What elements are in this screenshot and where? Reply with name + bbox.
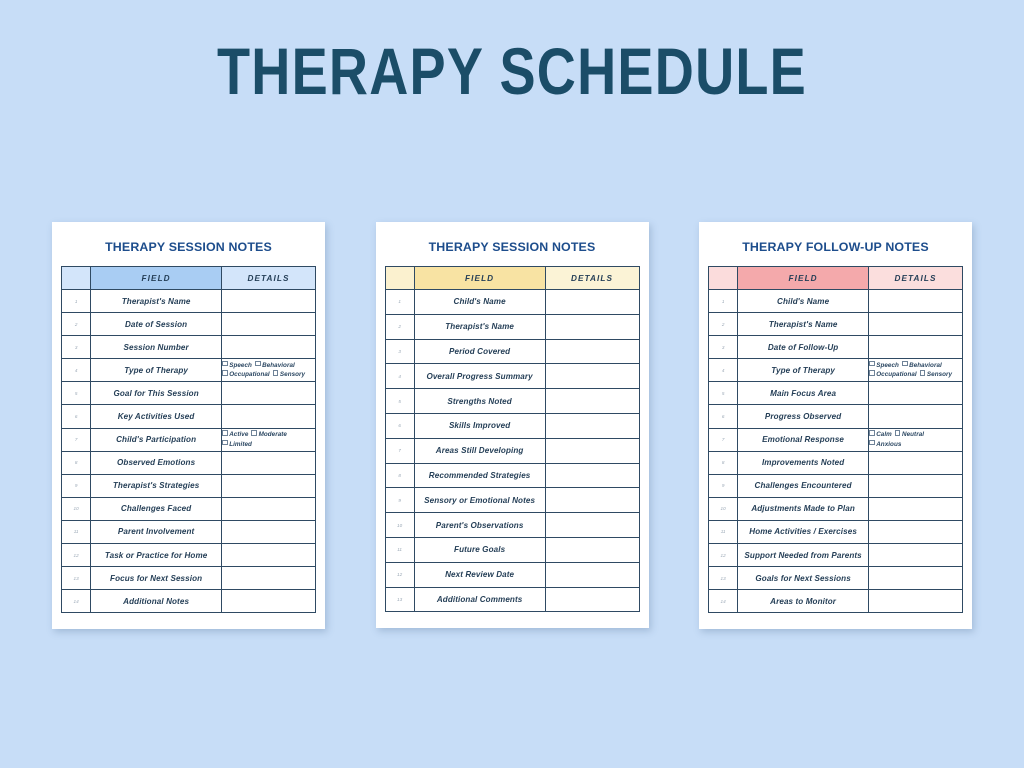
row-number: 7 xyxy=(709,428,738,451)
checkbox-icon[interactable] xyxy=(222,440,228,446)
column-header-details: DETAILS xyxy=(869,267,963,290)
row-field-label: Therapist's Name xyxy=(414,314,545,339)
checkbox-option[interactable]: Behavioral xyxy=(255,361,295,371)
row-number: 7 xyxy=(62,428,91,451)
checkbox-option[interactable]: Moderate xyxy=(251,430,287,440)
checkbox-option[interactable]: Active xyxy=(222,430,248,440)
row-number: 9 xyxy=(385,488,414,513)
row-field-label: Recommended Strategies xyxy=(414,463,545,488)
checkbox-option[interactable]: Sensory xyxy=(920,370,952,380)
checkbox-label: Anxious xyxy=(876,441,901,448)
row-field-label: Child's Participation xyxy=(91,428,222,451)
row-number: 8 xyxy=(709,451,738,474)
card-title: THERAPY SESSION NOTES xyxy=(385,240,640,254)
row-number: 5 xyxy=(62,382,91,405)
table-header-row: FIELDDETAILS xyxy=(385,267,639,290)
row-details-cell[interactable] xyxy=(869,567,963,590)
column-header-details: DETAILS xyxy=(222,267,316,290)
row-details-cell[interactable] xyxy=(869,497,963,520)
row-number: 11 xyxy=(62,520,91,543)
page-title: THERAPY SCHEDULE xyxy=(92,34,932,108)
row-details-cell[interactable] xyxy=(869,336,963,359)
row-details-cell[interactable] xyxy=(222,451,316,474)
row-field-label: Child's Name xyxy=(414,290,545,315)
row-number: 1 xyxy=(62,290,91,313)
table-row: 4Overall Progress Summary xyxy=(385,364,639,389)
row-details-cell[interactable] xyxy=(869,520,963,543)
checkbox-option-group: ActiveModerateLimited xyxy=(222,430,315,449)
table-row: 7Areas Still Developing xyxy=(385,438,639,463)
row-details-cell[interactable] xyxy=(545,537,639,562)
row-number: 9 xyxy=(62,474,91,497)
row-field-label: Therapist's Name xyxy=(91,290,222,313)
row-field-label: Date of Session xyxy=(91,313,222,336)
checkbox-option-group: CalmNeutralAnxious xyxy=(869,430,962,449)
checkbox-label: Behavioral xyxy=(262,362,295,369)
checkbox-option[interactable]: Occupational xyxy=(869,370,917,380)
row-number: 10 xyxy=(385,513,414,538)
row-field-label: Emotional Response xyxy=(738,428,869,451)
row-details-cell[interactable]: CalmNeutralAnxious xyxy=(869,428,963,451)
checkbox-label: Behavioral xyxy=(909,362,942,369)
table-header-row: FIELDDETAILS xyxy=(62,267,316,290)
row-details-cell[interactable] xyxy=(222,544,316,567)
column-header-field: FIELD xyxy=(738,267,869,290)
row-field-label: Areas Still Developing xyxy=(414,438,545,463)
table-row: 1Child's Name xyxy=(709,290,963,313)
row-number: 5 xyxy=(709,382,738,405)
table-row: 5Goal for This Session xyxy=(62,382,316,405)
row-number: 1 xyxy=(709,290,738,313)
row-number: 12 xyxy=(709,544,738,567)
row-field-label: Additional Notes xyxy=(91,590,222,613)
row-field-label: Main Focus Area xyxy=(738,382,869,405)
table-row: 6Skills Improved xyxy=(385,413,639,438)
row-number: 2 xyxy=(709,313,738,336)
checkbox-label: Occupational xyxy=(229,371,270,378)
checkbox-icon[interactable] xyxy=(869,440,875,446)
row-details-cell[interactable] xyxy=(545,463,639,488)
row-field-label: Child's Name xyxy=(738,290,869,313)
row-number: 2 xyxy=(385,314,414,339)
cards-row: THERAPY SESSION NOTESFIELDDETAILS1Therap… xyxy=(52,222,972,629)
row-number: 3 xyxy=(385,339,414,364)
row-details-cell[interactable] xyxy=(222,497,316,520)
checkbox-icon[interactable] xyxy=(869,370,875,376)
notes-table: FIELDDETAILS1Therapist's Name2Date of Se… xyxy=(61,266,316,613)
table-row: 3Session Number xyxy=(62,336,316,359)
row-number: 14 xyxy=(62,590,91,613)
row-field-label: Type of Therapy xyxy=(738,359,869,382)
table-row: 2Therapist's Name xyxy=(709,313,963,336)
table-row: 13Goals for Next Sessions xyxy=(709,567,963,590)
row-details-cell[interactable] xyxy=(222,336,316,359)
row-field-label: Type of Therapy xyxy=(91,359,222,382)
checkbox-label: Moderate xyxy=(259,431,287,438)
table-row: 8Observed Emotions xyxy=(62,451,316,474)
row-number: 13 xyxy=(709,567,738,590)
row-details-cell[interactable] xyxy=(545,587,639,612)
row-number: 3 xyxy=(62,336,91,359)
row-number: 12 xyxy=(62,544,91,567)
row-number: 7 xyxy=(385,438,414,463)
checkbox-label: Speech xyxy=(229,362,252,369)
table-row: 11Future Goals xyxy=(385,537,639,562)
checkbox-icon[interactable] xyxy=(222,430,228,436)
row-field-label: Overall Progress Summary xyxy=(414,364,545,389)
checkbox-option[interactable]: Limited xyxy=(222,440,252,450)
row-number: 4 xyxy=(62,359,91,382)
row-number: 14 xyxy=(709,590,738,613)
row-details-cell[interactable] xyxy=(545,562,639,587)
row-number: 6 xyxy=(709,405,738,428)
table-row: 3Date of Follow-Up xyxy=(709,336,963,359)
column-header-number xyxy=(385,267,414,290)
row-details-cell[interactable] xyxy=(545,339,639,364)
row-number: 3 xyxy=(709,336,738,359)
row-number: 10 xyxy=(62,497,91,520)
row-details-cell[interactable] xyxy=(545,314,639,339)
row-details-cell[interactable] xyxy=(869,451,963,474)
checkbox-icon[interactable] xyxy=(222,370,228,376)
row-number: 11 xyxy=(709,520,738,543)
row-field-label: Focus for Next Session xyxy=(91,567,222,590)
row-field-label: Session Number xyxy=(91,336,222,359)
row-details-cell[interactable] xyxy=(869,590,963,613)
row-details-cell[interactable] xyxy=(869,544,963,567)
checkbox-option[interactable]: Neutral xyxy=(895,430,924,440)
row-field-label: Challenges Encountered xyxy=(738,474,869,497)
row-field-label: Future Goals xyxy=(414,537,545,562)
row-field-label: Skills Improved xyxy=(414,413,545,438)
checkbox-label: Speech xyxy=(876,362,899,369)
row-field-label: Therapist's Name xyxy=(738,313,869,336)
row-number: 10 xyxy=(709,497,738,520)
table-row: 12Support Needed from Parents xyxy=(709,544,963,567)
row-field-label: Goals for Next Sessions xyxy=(738,567,869,590)
row-field-label: Areas to Monitor xyxy=(738,590,869,613)
checkbox-icon[interactable] xyxy=(902,361,908,367)
row-field-label: Goal for This Session xyxy=(91,382,222,405)
checkbox-option[interactable]: Speech xyxy=(869,361,899,371)
checkbox-icon[interactable] xyxy=(251,430,257,436)
row-details-cell[interactable] xyxy=(222,405,316,428)
row-details-cell[interactable] xyxy=(222,567,316,590)
card-title: THERAPY FOLLOW-UP NOTES xyxy=(708,240,963,254)
table-row: 1Therapist's Name xyxy=(62,290,316,313)
table-row: 10Adjustments Made to Plan xyxy=(709,497,963,520)
table-row: 5Main Focus Area xyxy=(709,382,963,405)
card-therapy-session-notes-yellow: THERAPY SESSION NOTESFIELDDETAILS1Child'… xyxy=(376,222,649,628)
table-row: 11Parent Involvement xyxy=(62,520,316,543)
table-row: 7Child's ParticipationActiveModerateLimi… xyxy=(62,428,316,451)
table-row: 7Emotional ResponseCalmNeutralAnxious xyxy=(709,428,963,451)
row-details-cell[interactable] xyxy=(545,488,639,513)
row-field-label: Key Activities Used xyxy=(91,405,222,428)
checkbox-label: Limited xyxy=(229,441,252,448)
table-row: 14Areas to Monitor xyxy=(709,590,963,613)
table-row: 9Challenges Encountered xyxy=(709,474,963,497)
row-number: 8 xyxy=(385,463,414,488)
table-row: 8Recommended Strategies xyxy=(385,463,639,488)
row-details-cell[interactable]: SpeechBehavioralOccupationalSensory xyxy=(222,359,316,382)
table-row: 10Challenges Faced xyxy=(62,497,316,520)
row-number: 13 xyxy=(62,567,91,590)
row-details-cell[interactable] xyxy=(545,290,639,315)
checkbox-option[interactable]: Calm xyxy=(869,430,892,440)
row-number: 12 xyxy=(385,562,414,587)
row-details-cell[interactable]: ActiveModerateLimited xyxy=(222,428,316,451)
row-field-label: Observed Emotions xyxy=(91,451,222,474)
column-header-field: FIELD xyxy=(91,267,222,290)
card-title: THERAPY SESSION NOTES xyxy=(61,240,316,254)
checkbox-icon[interactable] xyxy=(895,430,901,436)
checkbox-icon[interactable] xyxy=(255,361,261,367)
row-details-cell[interactable] xyxy=(222,382,316,405)
checkbox-option-group: SpeechBehavioralOccupationalSensory xyxy=(222,361,315,380)
row-field-label: Additional Comments xyxy=(414,587,545,612)
row-number: 2 xyxy=(62,313,91,336)
table-row: 4Type of TherapySpeechBehavioralOccupati… xyxy=(709,359,963,382)
card-therapy-follow-up-notes-pink: THERAPY FOLLOW-UP NOTESFIELDDETAILS1Chil… xyxy=(699,222,972,629)
row-field-label: Challenges Faced xyxy=(91,497,222,520)
row-number: 11 xyxy=(385,537,414,562)
row-field-label: Support Needed from Parents xyxy=(738,544,869,567)
row-details-cell[interactable] xyxy=(545,438,639,463)
row-details-cell[interactable] xyxy=(222,520,316,543)
row-details-cell[interactable] xyxy=(869,474,963,497)
checkbox-option[interactable]: Anxious xyxy=(869,440,901,450)
row-number: 4 xyxy=(709,359,738,382)
table-row: 6Progress Observed xyxy=(709,405,963,428)
card-therapy-session-notes-blue: THERAPY SESSION NOTESFIELDDETAILS1Therap… xyxy=(52,222,325,629)
checkbox-label: Neutral xyxy=(902,431,924,438)
notes-table: FIELDDETAILS1Child's Name2Therapist's Na… xyxy=(385,266,640,612)
row-details-cell[interactable] xyxy=(545,513,639,538)
row-number: 8 xyxy=(62,451,91,474)
row-field-label: Parent's Observations xyxy=(414,513,545,538)
checkbox-icon[interactable] xyxy=(869,430,875,436)
table-row: 6Key Activities Used xyxy=(62,405,316,428)
table-row: 9Sensory or Emotional Notes xyxy=(385,488,639,513)
row-details-cell[interactable] xyxy=(869,290,963,313)
row-details-cell[interactable] xyxy=(869,382,963,405)
row-details-cell[interactable] xyxy=(222,313,316,336)
row-field-label: Home Activities / Exercises xyxy=(738,520,869,543)
row-details-cell[interactable] xyxy=(869,405,963,428)
row-field-label: Date of Follow-Up xyxy=(738,336,869,359)
row-field-label: Progress Observed xyxy=(738,405,869,428)
row-number: 4 xyxy=(385,364,414,389)
row-details-cell[interactable] xyxy=(545,389,639,414)
checkbox-icon[interactable] xyxy=(273,370,279,376)
checkbox-icon[interactable] xyxy=(869,361,875,367)
row-number: 1 xyxy=(385,290,414,315)
row-number: 5 xyxy=(385,389,414,414)
row-field-label: Therapist's Strategies xyxy=(91,474,222,497)
table-row: 14Additional Notes xyxy=(62,590,316,613)
row-details-cell[interactable] xyxy=(222,474,316,497)
row-details-cell[interactable] xyxy=(222,590,316,613)
table-row: 3Period Covered xyxy=(385,339,639,364)
table-row: 5Strengths Noted xyxy=(385,389,639,414)
row-number: 6 xyxy=(62,405,91,428)
checkbox-label: Sensory xyxy=(927,371,952,378)
table-row: 10Parent's Observations xyxy=(385,513,639,538)
checkbox-label: Occupational xyxy=(876,371,917,378)
row-details-cell[interactable] xyxy=(545,413,639,438)
checkbox-label: Active xyxy=(229,431,248,438)
checkbox-icon[interactable] xyxy=(222,361,228,367)
table-row: 12Next Review Date xyxy=(385,562,639,587)
checkbox-option[interactable]: Behavioral xyxy=(902,361,942,371)
table-row: 4Type of TherapySpeechBehavioralOccupati… xyxy=(62,359,316,382)
checkbox-option[interactable]: Sensory xyxy=(273,370,305,380)
table-row: 1Child's Name xyxy=(385,290,639,315)
column-header-number xyxy=(62,267,91,290)
row-field-label: Parent Involvement xyxy=(91,520,222,543)
row-number: 9 xyxy=(709,474,738,497)
row-field-label: Improvements Noted xyxy=(738,451,869,474)
table-row: 2Therapist's Name xyxy=(385,314,639,339)
column-header-field: FIELD xyxy=(414,267,545,290)
table-row: 13Additional Comments xyxy=(385,587,639,612)
row-details-cell[interactable] xyxy=(222,290,316,313)
row-field-label: Adjustments Made to Plan xyxy=(738,497,869,520)
row-details-cell[interactable] xyxy=(869,313,963,336)
row-field-label: Period Covered xyxy=(414,339,545,364)
row-field-label: Next Review Date xyxy=(414,562,545,587)
row-field-label: Task or Practice for Home xyxy=(91,544,222,567)
notes-table: FIELDDETAILS1Child's Name2Therapist's Na… xyxy=(708,266,963,613)
checkbox-label: Calm xyxy=(876,431,892,438)
checkbox-icon[interactable] xyxy=(920,370,926,376)
checkbox-option-group: SpeechBehavioralOccupationalSensory xyxy=(869,361,962,380)
row-field-label: Strengths Noted xyxy=(414,389,545,414)
column-header-details: DETAILS xyxy=(545,267,639,290)
table-row: 8Improvements Noted xyxy=(709,451,963,474)
checkbox-label: Sensory xyxy=(280,371,305,378)
table-row: 2Date of Session xyxy=(62,313,316,336)
row-details-cell[interactable] xyxy=(545,364,639,389)
table-row: 9Therapist's Strategies xyxy=(62,474,316,497)
row-details-cell[interactable]: SpeechBehavioralOccupationalSensory xyxy=(869,359,963,382)
table-row: 11Home Activities / Exercises xyxy=(709,520,963,543)
table-row: 13Focus for Next Session xyxy=(62,567,316,590)
row-number: 6 xyxy=(385,413,414,438)
checkbox-option[interactable]: Occupational xyxy=(222,370,270,380)
table-row: 12Task or Practice for Home xyxy=(62,544,316,567)
table-header-row: FIELDDETAILS xyxy=(709,267,963,290)
checkbox-option[interactable]: Speech xyxy=(222,361,252,371)
column-header-number xyxy=(709,267,738,290)
row-number: 13 xyxy=(385,587,414,612)
row-field-label: Sensory or Emotional Notes xyxy=(414,488,545,513)
